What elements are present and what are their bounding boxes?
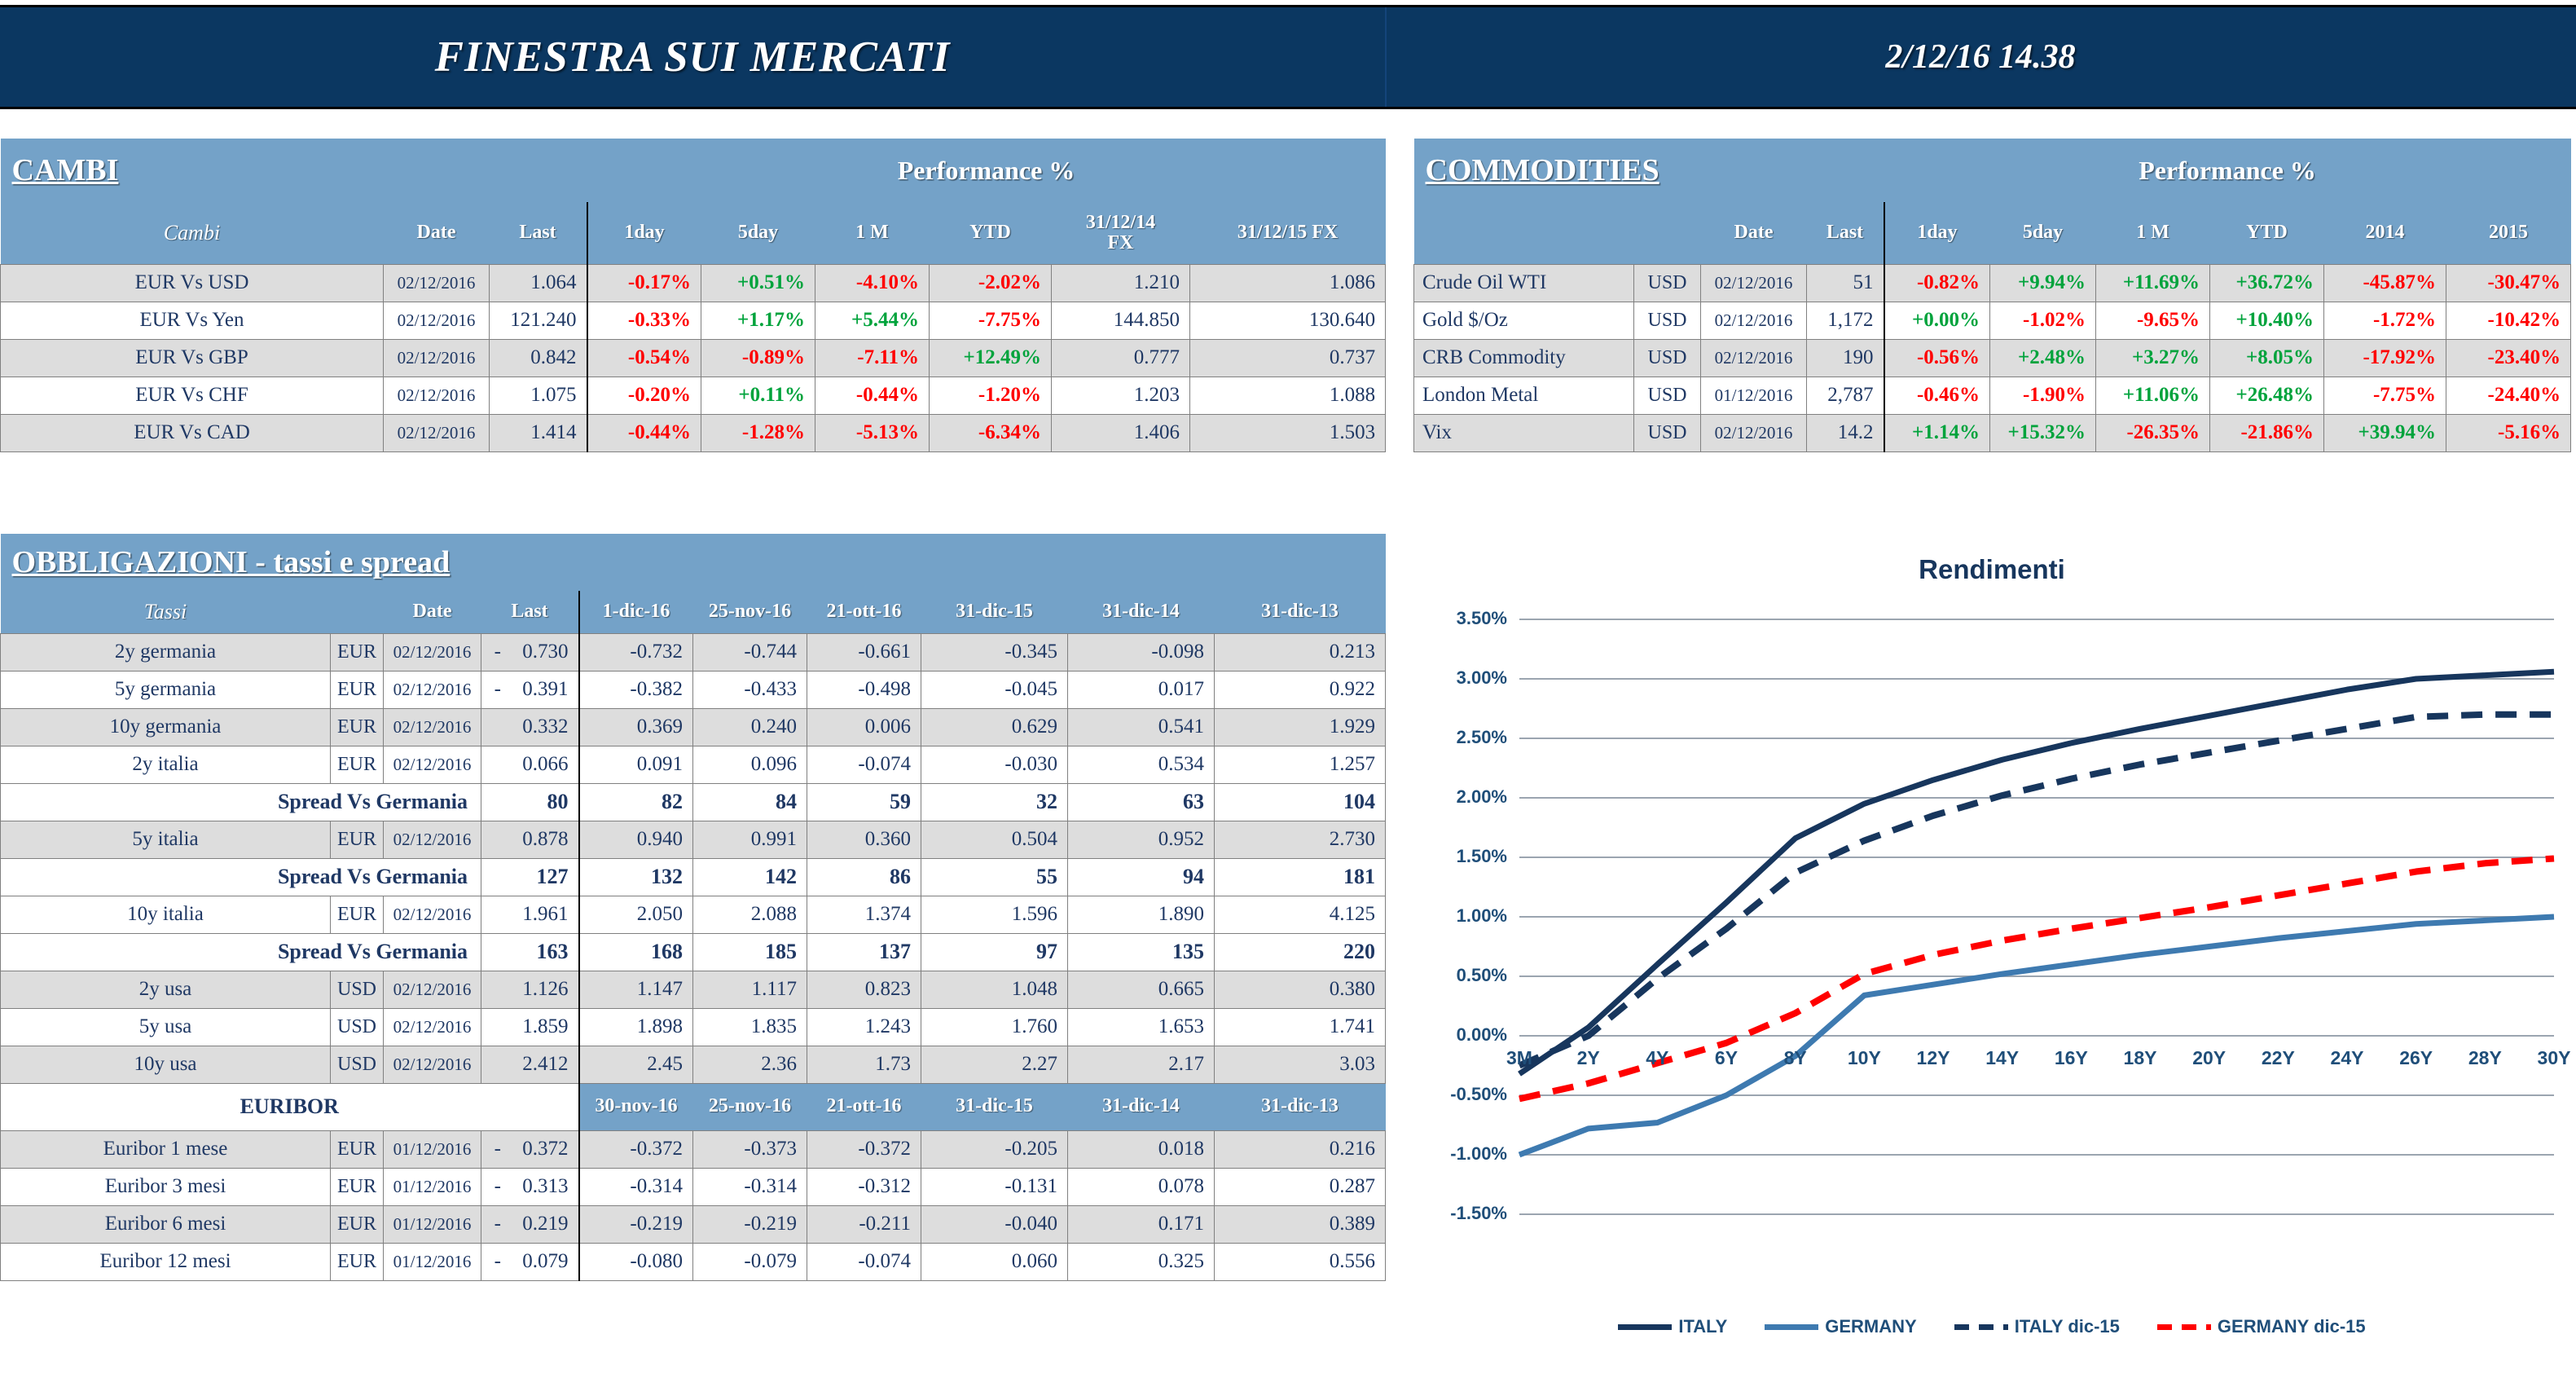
legend-label: GERMANY xyxy=(1825,1316,1916,1337)
commodity-row-ytd: +26.48% xyxy=(2210,377,2324,414)
spread-c3: 59 xyxy=(807,783,921,821)
obb-row-date: 02/12/2016 xyxy=(384,1008,481,1046)
chart-y-tick-label: -1.50% xyxy=(1418,1203,1507,1224)
obb-row-c4: 0.629 xyxy=(921,708,1068,746)
euribor-row-c3: -0.372 xyxy=(807,1130,921,1168)
obb-row-c6: 4.125 xyxy=(1215,896,1386,933)
chart-y-tick-label: -0.50% xyxy=(1418,1084,1507,1105)
chart-x-tick-label: 10Y xyxy=(1835,1047,1892,1069)
commodities-col-ytd: YTD xyxy=(2210,202,2324,264)
euribor-row-last: 0.079 xyxy=(514,1243,579,1280)
obb-row-c1: -0.732 xyxy=(579,633,693,671)
euribor-row-sign: - xyxy=(481,1130,514,1168)
obb-row-last: 1.126 xyxy=(514,971,579,1008)
cambi-row-1m: -5.13% xyxy=(815,414,930,451)
obb-row-c5: -0.098 xyxy=(1068,633,1215,671)
euribor-row-c4: 0.060 xyxy=(921,1243,1068,1280)
commodity-row-ytd: +10.40% xyxy=(2210,302,2324,339)
euribor-col-0: 30-nov-16 xyxy=(579,1083,693,1130)
cambi-row-fx15: 1.086 xyxy=(1190,264,1386,302)
obb-row-c5: 2.17 xyxy=(1068,1046,1215,1083)
table-row: 10y italiaEUR02/12/20161.9612.0502.0881.… xyxy=(1,896,1386,933)
obb-row-date: 02/12/2016 xyxy=(384,1046,481,1083)
cambi-row-name: EUR Vs CAD xyxy=(1,414,384,451)
commodities-table: COMMODITIES Performance % Date Last 1day… xyxy=(1413,139,2571,452)
obbligazioni-title-filler xyxy=(579,534,1386,591)
commodities-col-5day: 5day xyxy=(1990,202,2096,264)
page-title: FINESTRA SUI MERCATI xyxy=(0,7,1385,107)
commodity-row-1day: +0.00% xyxy=(1884,302,1990,339)
chart-series-italy-dic-15 xyxy=(1519,715,2554,1066)
commodity-row-1day: -0.56% xyxy=(1884,339,1990,377)
euribor-row-name: Euribor 12 mesi xyxy=(1,1243,331,1280)
obb-row-date: 02/12/2016 xyxy=(384,971,481,1008)
commodity-row-ytd: +36.72% xyxy=(2210,264,2324,302)
cambi-row-1day: -0.54% xyxy=(587,339,701,377)
spread-label: Spread Vs Germania xyxy=(1,933,481,971)
cambi-performance-label: Performance % xyxy=(587,139,1386,202)
obb-col-currency xyxy=(331,591,384,633)
obb-row-name: 2y italia xyxy=(1,746,331,783)
obb-row-c2: 1.835 xyxy=(693,1008,807,1046)
cambi-row-ytd: +12.49% xyxy=(930,339,1052,377)
spread-c3: 137 xyxy=(807,933,921,971)
obb-row-c2: 1.117 xyxy=(693,971,807,1008)
euribor-row-c5: 0.078 xyxy=(1068,1168,1215,1205)
commodity-row-1day: -0.82% xyxy=(1884,264,1990,302)
obb-row-c2: 2.088 xyxy=(693,896,807,933)
obb-row-sign xyxy=(481,896,514,933)
table-row: EUR Vs Yen02/12/2016121.240-0.33%+1.17%+… xyxy=(1,302,1386,339)
cambi-row-last: 121.240 xyxy=(490,302,587,339)
spread-label: Spread Vs Germania xyxy=(1,783,481,821)
legend-item: ITALY xyxy=(1618,1316,1727,1337)
obb-col-c4: 31-dic-15 xyxy=(921,591,1068,633)
cambi-col-last: Last xyxy=(490,202,587,264)
euribor-row-date: 01/12/2016 xyxy=(384,1168,481,1205)
legend-swatch-dashed-icon xyxy=(1954,1324,2008,1330)
obb-row-c2: 0.991 xyxy=(693,821,807,858)
commodity-row-date: 02/12/2016 xyxy=(1701,339,1807,377)
euribor-row-c2: -0.314 xyxy=(693,1168,807,1205)
commodities-performance-label: Performance % xyxy=(1884,139,2571,202)
euribor-row-currency: EUR xyxy=(331,1168,384,1205)
obb-row-c6: 2.730 xyxy=(1215,821,1386,858)
cambi-row-5day: +0.11% xyxy=(701,377,815,414)
commodity-row-currency: USD xyxy=(1634,264,1701,302)
obb-row-c5: 0.952 xyxy=(1068,821,1215,858)
cambi-row-1day: -0.20% xyxy=(587,377,701,414)
cambi-col-1day: 1day xyxy=(587,202,701,264)
cambi-row-1m: -7.11% xyxy=(815,339,930,377)
cambi-row-fx14: 0.777 xyxy=(1052,339,1190,377)
obb-col-date: Date xyxy=(384,591,481,633)
euribor-row-c6: 0.556 xyxy=(1215,1243,1386,1280)
chart-x-tick-label: 4Y xyxy=(1629,1047,1686,1069)
cambi-row-1day: -0.33% xyxy=(587,302,701,339)
euribor-row-c3: -0.211 xyxy=(807,1205,921,1243)
obb-row-c2: 0.240 xyxy=(693,708,807,746)
cambi-row-date: 02/12/2016 xyxy=(384,302,490,339)
commodities-section-title: COMMODITIES xyxy=(1414,139,1884,202)
cambi-col-1m: 1 M xyxy=(815,202,930,264)
table-row: 10y germaniaEUR02/12/20160.3320.3690.240… xyxy=(1,708,1386,746)
obb-row-name: 5y usa xyxy=(1,1008,331,1046)
cambi-row-fx14: 1.406 xyxy=(1052,414,1190,451)
obb-row-last: 1.859 xyxy=(514,1008,579,1046)
chart-x-tick-label: 28Y xyxy=(2456,1047,2513,1069)
euribor-col-3: 31-dic-15 xyxy=(921,1083,1068,1130)
obb-row-date: 02/12/2016 xyxy=(384,746,481,783)
obb-row-c3: -0.661 xyxy=(807,633,921,671)
legend-item: GERMANY dic-15 xyxy=(2157,1316,2366,1337)
commodity-row-2015: -24.40% xyxy=(2446,377,2571,414)
spread-c5: 135 xyxy=(1068,933,1215,971)
commodity-row-5day: +9.94% xyxy=(1990,264,2096,302)
chart-legend: ITALYGERMANYITALY dic-15GERMANY dic-15 xyxy=(1413,1316,2570,1337)
euribor-col-5: 31-dic-13 xyxy=(1215,1083,1386,1130)
cambi-row-name: EUR Vs CHF xyxy=(1,377,384,414)
cambi-col-5day: 5day xyxy=(701,202,815,264)
cambi-section-title: CAMBI xyxy=(1,139,587,202)
cambi-row-name: EUR Vs USD xyxy=(1,264,384,302)
obb-row-currency: EUR xyxy=(331,633,384,671)
euribor-row-c3: -0.312 xyxy=(807,1168,921,1205)
table-row: 5y usaUSD02/12/20161.8591.8981.8351.2431… xyxy=(1,1008,1386,1046)
obb-row-c2: -0.744 xyxy=(693,633,807,671)
legend-label: ITALY dic-15 xyxy=(2015,1316,2120,1337)
commodity-row-2015: -5.16% xyxy=(2446,414,2571,451)
obb-row-name: 5y italia xyxy=(1,821,331,858)
euribor-row-c4: -0.205 xyxy=(921,1130,1068,1168)
chart-y-tick-label: 1.50% xyxy=(1418,846,1507,867)
commodity-row-last: 2,787 xyxy=(1807,377,1884,414)
table-row: London MetalUSD01/12/20162,787-0.46%-1.9… xyxy=(1414,377,2571,414)
euribor-row-currency: EUR xyxy=(331,1205,384,1243)
chart-x-tick-label: 14Y xyxy=(1974,1047,2031,1069)
euribor-row-sign: - xyxy=(481,1168,514,1205)
euribor-row-c3: -0.074 xyxy=(807,1243,921,1280)
euribor-row-c1: -0.314 xyxy=(579,1168,693,1205)
obb-row-c5: 1.890 xyxy=(1068,896,1215,933)
table-row: 2y germaniaEUR02/12/2016-0.730-0.732-0.7… xyxy=(1,633,1386,671)
table-row: Euribor 12 mesiEUR01/12/2016-0.079-0.080… xyxy=(1,1243,1386,1280)
app-title-bar: FINESTRA SUI MERCATI 2/12/16 14.38 xyxy=(0,5,2576,109)
obb-row-c3: 1.374 xyxy=(807,896,921,933)
obb-row-c4: 1.760 xyxy=(921,1008,1068,1046)
cambi-col-date: Date xyxy=(384,202,490,264)
obb-col-c1: 1-dic-16 xyxy=(579,591,693,633)
obb-row-last: 0.066 xyxy=(514,746,579,783)
cambi-row-date: 02/12/2016 xyxy=(384,414,490,451)
euribor-col-4: 31-dic-14 xyxy=(1068,1083,1215,1130)
cambi-col-fx15: 31/12/15 FX xyxy=(1190,202,1386,264)
euribor-row-name: Euribor 6 mesi xyxy=(1,1205,331,1243)
cambi-row-5day: +0.51% xyxy=(701,264,815,302)
euribor-row-last: 0.313 xyxy=(514,1168,579,1205)
obb-row-name: 2y usa xyxy=(1,971,331,1008)
cambi-row-fx14: 1.203 xyxy=(1052,377,1190,414)
commodity-row-1m: +3.27% xyxy=(2096,339,2210,377)
obb-row-c5: 0.665 xyxy=(1068,971,1215,1008)
obb-row-last: 2.412 xyxy=(514,1046,579,1083)
commodities-col-2014: 2014 xyxy=(2324,202,2446,264)
obb-row-c3: -0.074 xyxy=(807,746,921,783)
euribor-row-date: 01/12/2016 xyxy=(384,1130,481,1168)
obb-row-c5: 0.541 xyxy=(1068,708,1215,746)
table-row: 2y usaUSD02/12/20161.1261.1471.1170.8231… xyxy=(1,971,1386,1008)
chart-x-tick-label: 16Y xyxy=(2042,1047,2099,1069)
obb-row-currency: EUR xyxy=(331,821,384,858)
obb-row-c1: 1.147 xyxy=(579,971,693,1008)
euribor-row-c6: 0.216 xyxy=(1215,1130,1386,1168)
rendimenti-chart: Rendimenti 3.50%3.00%2.50%2.00%1.50%1.00… xyxy=(1413,538,2570,1389)
obb-row-last: 1.961 xyxy=(514,896,579,933)
cambi-row-ytd: -6.34% xyxy=(930,414,1052,451)
chart-plot-area xyxy=(1413,538,2570,1320)
commodity-row-2014: -17.92% xyxy=(2324,339,2446,377)
commodities-col-date: Date xyxy=(1701,202,1807,264)
obb-row-name: 2y germania xyxy=(1,633,331,671)
cambi-col-ytd: YTD xyxy=(930,202,1052,264)
euribor-row-name: Euribor 1 mese xyxy=(1,1130,331,1168)
spread-c6: 181 xyxy=(1215,858,1386,896)
cambi-row-fx15: 1.088 xyxy=(1190,377,1386,414)
euribor-row-c4: -0.131 xyxy=(921,1168,1068,1205)
cambi-table: CAMBI Performance % Cambi Date Last 1day… xyxy=(0,139,1386,452)
table-row: EUR Vs CAD02/12/20161.414-0.44%-1.28%-5.… xyxy=(1,414,1386,451)
spread-c4: 55 xyxy=(921,858,1068,896)
legend-swatch-solid-icon xyxy=(1618,1324,1672,1330)
obb-row-name: 10y usa xyxy=(1,1046,331,1083)
obb-row-currency: EUR xyxy=(331,896,384,933)
legend-swatch-dashed-icon xyxy=(2157,1324,2211,1330)
cambi-col-fx14-line1: 31/12/14 xyxy=(1086,212,1155,233)
euribor-row-c2: -0.079 xyxy=(693,1243,807,1280)
obb-row-last: 0.878 xyxy=(514,821,579,858)
table-row: 5y germaniaEUR02/12/2016-0.391-0.382-0.4… xyxy=(1,671,1386,708)
chart-y-tick-label: 2.00% xyxy=(1418,786,1507,808)
commodity-row-date: 02/12/2016 xyxy=(1701,264,1807,302)
commodity-row-date: 01/12/2016 xyxy=(1701,377,1807,414)
spread-last: 127 xyxy=(481,858,579,896)
spread-row: Spread Vs Germania16316818513797135220 xyxy=(1,933,1386,971)
spread-c2: 185 xyxy=(693,933,807,971)
commodity-row-2014: -45.87% xyxy=(2324,264,2446,302)
commodity-row-last: 1,172 xyxy=(1807,302,1884,339)
commodity-row-name: CRB Commodity xyxy=(1414,339,1634,377)
obbligazioni-panel: OBBLIGAZIONI - tassi e spread Tassi Date… xyxy=(0,534,1385,1281)
cambi-row-name: EUR Vs Yen xyxy=(1,302,384,339)
cambi-row-1m: +5.44% xyxy=(815,302,930,339)
commodity-row-1day: -0.46% xyxy=(1884,377,1990,414)
euribor-row-currency: EUR xyxy=(331,1130,384,1168)
spread-last: 80 xyxy=(481,783,579,821)
commodity-row-currency: USD xyxy=(1634,302,1701,339)
obb-row-c4: -0.030 xyxy=(921,746,1068,783)
euribor-row-c6: 0.389 xyxy=(1215,1205,1386,1243)
spread-c1: 132 xyxy=(579,858,693,896)
obb-row-c6: 0.213 xyxy=(1215,633,1386,671)
euribor-row-c1: -0.219 xyxy=(579,1205,693,1243)
obb-row-c5: 0.017 xyxy=(1068,671,1215,708)
commodity-row-name: Crude Oil WTI xyxy=(1414,264,1634,302)
obb-row-c4: -0.045 xyxy=(921,671,1068,708)
cambi-col-fx14-line2: FX xyxy=(1108,232,1134,253)
obb-row-sign xyxy=(481,821,514,858)
cambi-row-last: 1.414 xyxy=(490,414,587,451)
obb-row-c3: 0.006 xyxy=(807,708,921,746)
commodity-row-5day: +2.48% xyxy=(1990,339,2096,377)
legend-label: ITALY xyxy=(1678,1316,1727,1337)
commodities-panel: COMMODITIES Performance % Date Last 1day… xyxy=(1413,139,2570,452)
table-row: Euribor 3 mesiEUR01/12/2016-0.313-0.314-… xyxy=(1,1168,1386,1205)
commodities-col-1m: 1 M xyxy=(2096,202,2210,264)
obb-row-c4: 1.048 xyxy=(921,971,1068,1008)
commodity-row-1m: +11.06% xyxy=(2096,377,2210,414)
chart-x-tick-label: 8Y xyxy=(1767,1047,1824,1069)
cambi-row-fx14: 1.210 xyxy=(1052,264,1190,302)
obb-row-c4: -0.345 xyxy=(921,633,1068,671)
commodity-row-date: 02/12/2016 xyxy=(1701,414,1807,451)
commodity-row-5day: -1.90% xyxy=(1990,377,2096,414)
euribor-row-sign: - xyxy=(481,1243,514,1280)
obb-row-date: 02/12/2016 xyxy=(384,633,481,671)
obb-row-c3: -0.498 xyxy=(807,671,921,708)
euribor-row-currency: EUR xyxy=(331,1243,384,1280)
spread-c4: 32 xyxy=(921,783,1068,821)
commodity-row-last: 14.2 xyxy=(1807,414,1884,451)
obb-row-date: 02/12/2016 xyxy=(384,708,481,746)
obb-row-c1: 0.369 xyxy=(579,708,693,746)
table-row: EUR Vs CHF02/12/20161.075-0.20%+0.11%-0.… xyxy=(1,377,1386,414)
euribor-row-c2: -0.219 xyxy=(693,1205,807,1243)
chart-y-tick-label: 3.00% xyxy=(1418,667,1507,689)
obb-col-c2: 25-nov-16 xyxy=(693,591,807,633)
commodity-row-name: London Metal xyxy=(1414,377,1634,414)
obb-row-last: 0.391 xyxy=(514,671,579,708)
chart-x-tick-label: 18Y xyxy=(2112,1047,2169,1069)
commodity-row-2014: -1.72% xyxy=(2324,302,2446,339)
commodity-row-currency: USD xyxy=(1634,377,1701,414)
cambi-row-fx14: 144.850 xyxy=(1052,302,1190,339)
commodities-col-last: Last xyxy=(1807,202,1884,264)
spread-last: 163 xyxy=(481,933,579,971)
commodities-col-1day: 1day xyxy=(1884,202,1990,264)
obb-row-c3: 0.823 xyxy=(807,971,921,1008)
obb-row-c6: 1.257 xyxy=(1215,746,1386,783)
spread-c5: 94 xyxy=(1068,858,1215,896)
cambi-row-last: 0.842 xyxy=(490,339,587,377)
legend-swatch-solid-icon xyxy=(1765,1324,1818,1330)
table-row: EUR Vs USD02/12/20161.064-0.17%+0.51%-4.… xyxy=(1,264,1386,302)
obb-row-c1: 0.940 xyxy=(579,821,693,858)
cambi-row-1m: -4.10% xyxy=(815,264,930,302)
obb-col-last: Last xyxy=(481,591,579,633)
obb-col-c5: 31-dic-14 xyxy=(1068,591,1215,633)
commodity-row-1m: +11.69% xyxy=(2096,264,2210,302)
cambi-row-ytd: -7.75% xyxy=(930,302,1052,339)
euribor-row-c5: 0.018 xyxy=(1068,1130,1215,1168)
table-row: Gold $/OzUSD02/12/20161,172+0.00%-1.02%-… xyxy=(1414,302,2571,339)
commodity-row-ytd: +8.05% xyxy=(2210,339,2324,377)
obb-row-c3: 0.360 xyxy=(807,821,921,858)
cambi-row-name: EUR Vs GBP xyxy=(1,339,384,377)
chart-x-tick-label: 2Y xyxy=(1560,1047,1617,1069)
cambi-row-ytd: -2.02% xyxy=(930,264,1052,302)
commodity-row-1m: -9.65% xyxy=(2096,302,2210,339)
cambi-row-5day: -0.89% xyxy=(701,339,815,377)
obb-row-sign: - xyxy=(481,671,514,708)
commodity-row-currency: USD xyxy=(1634,414,1701,451)
commodity-row-1m: -26.35% xyxy=(2096,414,2210,451)
commodity-row-last: 190 xyxy=(1807,339,1884,377)
cambi-row-date: 02/12/2016 xyxy=(384,339,490,377)
cambi-row-ytd: -1.20% xyxy=(930,377,1052,414)
obb-row-sign: - xyxy=(481,633,514,671)
obb-row-c6: 1.741 xyxy=(1215,1008,1386,1046)
obb-row-sign xyxy=(481,1008,514,1046)
obb-row-name: 10y italia xyxy=(1,896,331,933)
obb-row-sign xyxy=(481,971,514,1008)
obb-row-sign xyxy=(481,1046,514,1083)
euribor-row-c4: -0.040 xyxy=(921,1205,1068,1243)
chart-x-tick-label: 30Y xyxy=(2525,1047,2576,1069)
obb-row-last: 0.332 xyxy=(514,708,579,746)
commodity-row-currency: USD xyxy=(1634,339,1701,377)
cambi-panel: CAMBI Performance % Cambi Date Last 1day… xyxy=(0,139,1385,452)
euribor-row-date: 01/12/2016 xyxy=(384,1205,481,1243)
spread-c2: 142 xyxy=(693,858,807,896)
chart-x-tick-label: 3M xyxy=(1491,1047,1548,1069)
obb-row-sign xyxy=(481,746,514,783)
obb-row-c1: 1.898 xyxy=(579,1008,693,1046)
spread-label: Spread Vs Germania xyxy=(1,858,481,896)
obb-row-date: 02/12/2016 xyxy=(384,821,481,858)
commodity-row-last: 51 xyxy=(1807,264,1884,302)
chart-y-tick-label: 2.50% xyxy=(1418,727,1507,748)
spread-c1: 168 xyxy=(579,933,693,971)
chart-title: Rendimenti xyxy=(1413,554,2570,585)
obb-row-currency: USD xyxy=(331,1046,384,1083)
commodity-row-name: Vix xyxy=(1414,414,1634,451)
chart-x-tick-label: 22Y xyxy=(2249,1047,2306,1069)
spread-c1: 82 xyxy=(579,783,693,821)
chart-x-tick-label: 26Y xyxy=(2388,1047,2445,1069)
table-row: EUR Vs GBP02/12/20160.842-0.54%-0.89%-7.… xyxy=(1,339,1386,377)
euribor-row-last: 0.219 xyxy=(514,1205,579,1243)
obb-row-sign xyxy=(481,708,514,746)
spread-c6: 104 xyxy=(1215,783,1386,821)
table-row: 2y italiaEUR02/12/20160.0660.0910.096-0.… xyxy=(1,746,1386,783)
obb-row-c1: 0.091 xyxy=(579,746,693,783)
euribor-row-c2: -0.373 xyxy=(693,1130,807,1168)
obb-row-c6: 1.929 xyxy=(1215,708,1386,746)
cambi-row-date: 02/12/2016 xyxy=(384,264,490,302)
cambi-row-last: 1.075 xyxy=(490,377,587,414)
obb-col-c3: 21-ott-16 xyxy=(807,591,921,633)
obb-row-c2: 2.36 xyxy=(693,1046,807,1083)
cambi-row-5day: -1.28% xyxy=(701,414,815,451)
commodity-row-2015: -30.47% xyxy=(2446,264,2571,302)
chart-y-tick-label: 3.50% xyxy=(1418,608,1507,629)
header-timestamp: 2/12/16 14.38 xyxy=(1385,7,2576,107)
obb-row-name: 10y germania xyxy=(1,708,331,746)
spread-row: Spread Vs Germania808284593263104 xyxy=(1,783,1386,821)
spread-c6: 220 xyxy=(1215,933,1386,971)
spread-c5: 63 xyxy=(1068,783,1215,821)
obb-row-c6: 0.380 xyxy=(1215,971,1386,1008)
